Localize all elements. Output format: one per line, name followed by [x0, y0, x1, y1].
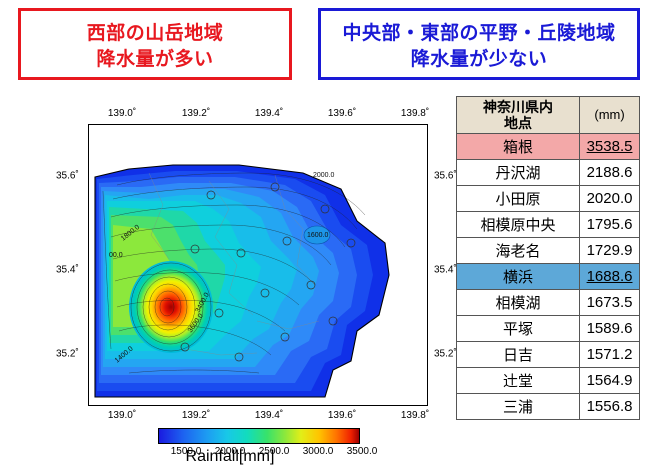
table-cell-location: 三浦 — [457, 394, 580, 420]
table-cell-location: 横浜 — [457, 264, 580, 290]
x-tick-bottom-2: 139.4˚ — [255, 410, 283, 421]
x-tick-bottom-3: 139.6˚ — [328, 410, 356, 421]
table-header-location-line1: 神奈川県内 — [457, 99, 579, 115]
y-tick-left-2: 35.2˚ — [56, 349, 79, 360]
table-cell-rainfall: 1673.5 — [580, 290, 640, 316]
table-cell-location: 小田原 — [457, 186, 580, 212]
table-row: 箱根3538.5 — [457, 134, 640, 160]
x-tick-bottom-1: 139.2˚ — [182, 410, 210, 421]
y-tick-right-0: 35.6˚ — [434, 171, 457, 182]
table-cell-location: 丹沢湖 — [457, 160, 580, 186]
table-cell-location: 相模原中央 — [457, 212, 580, 238]
x-tick-bottom-0: 139.0˚ — [108, 410, 136, 421]
table-cell-location: 箱根 — [457, 134, 580, 160]
table-row: 相模原中央1795.6 — [457, 212, 640, 238]
table-cell-rainfall: 1589.6 — [580, 316, 640, 342]
table-cell-location: 辻堂 — [457, 368, 580, 394]
table-row: 平塚1589.6 — [457, 316, 640, 342]
table-header-unit: (mm) — [580, 97, 640, 134]
contour-label-1: 1600.0 — [307, 232, 329, 239]
y-tick-right-1: 35.4˚ — [434, 265, 457, 276]
x-tick-top-4: 139.8˚ — [401, 108, 429, 119]
table-cell-rainfall: 1688.6 — [580, 264, 640, 290]
table-row: 海老名1729.9 — [457, 238, 640, 264]
rainfall-map-figure: 139.0˚ 139.2˚ 139.4˚ 139.6˚ 139.8˚ 139.0… — [20, 92, 440, 467]
table-cell-location: 相模湖 — [457, 290, 580, 316]
table-cell-rainfall: 1571.2 — [580, 342, 640, 368]
table-row: 相模湖1673.5 — [457, 290, 640, 316]
colorbar-axis-label: Rainfall[mm] — [20, 448, 440, 466]
y-tick-left-0: 35.6˚ — [56, 171, 79, 182]
table-header-row: 神奈川県内 地点 (mm) — [457, 97, 640, 134]
table-row: 小田原2020.0 — [457, 186, 640, 212]
callout-east-plains: 中央部・東部の平野・丘陵地域 降水量が少ない — [318, 8, 640, 80]
map-plot-area: 2000.0 1600.0 1800.0 00.0 3400.0 3600.0 … — [88, 124, 428, 406]
x-tick-bottom-4: 139.8˚ — [401, 410, 429, 421]
table-cell-rainfall: 2020.0 — [580, 186, 640, 212]
colorbar-gradient — [159, 429, 359, 443]
rainfall-ranking-table: 神奈川県内 地点 (mm) 箱根3538.5丹沢湖2188.6小田原2020.0… — [456, 96, 640, 420]
x-tick-top-1: 139.2˚ — [182, 108, 210, 119]
callout-east-line2: 降水量が少ない — [321, 47, 637, 73]
table-cell-location: 海老名 — [457, 238, 580, 264]
callout-west-line2: 降水量が多い — [21, 47, 289, 73]
callout-east-line1: 中央部・東部の平野・丘陵地域 — [321, 21, 637, 47]
table-row: 丹沢湖2188.6 — [457, 160, 640, 186]
y-tick-left-1: 35.4˚ — [56, 265, 79, 276]
table-row: 日吉1571.2 — [457, 342, 640, 368]
colorbar — [158, 428, 360, 444]
table-cell-rainfall: 1564.9 — [580, 368, 640, 394]
table-header-location-line2: 地点 — [457, 115, 579, 131]
y-tick-right-2: 35.2˚ — [434, 349, 457, 360]
x-tick-top-2: 139.4˚ — [255, 108, 283, 119]
rainfall-contour-map: 2000.0 1600.0 1800.0 00.0 3400.0 3600.0 … — [89, 125, 427, 405]
table-row: 三浦1556.8 — [457, 394, 640, 420]
callout-west-mountains: 西部の山岳地域 降水量が多い — [18, 8, 292, 80]
x-tick-top-0: 139.0˚ — [108, 108, 136, 119]
table-cell-location: 平塚 — [457, 316, 580, 342]
table-row: 横浜1688.6 — [457, 264, 640, 290]
contour-label-3: 00.0 — [109, 252, 123, 259]
table-cell-rainfall: 3538.5 — [580, 134, 640, 160]
table-cell-location: 日吉 — [457, 342, 580, 368]
x-tick-top-3: 139.6˚ — [328, 108, 356, 119]
table-row: 辻堂1564.9 — [457, 368, 640, 394]
table-header-location: 神奈川県内 地点 — [457, 97, 580, 134]
contour-label-0: 2000.0 — [313, 172, 335, 179]
table-cell-rainfall: 1556.8 — [580, 394, 640, 420]
table-cell-rainfall: 2188.6 — [580, 160, 640, 186]
table-cell-rainfall: 1795.6 — [580, 212, 640, 238]
callout-west-line1: 西部の山岳地域 — [21, 21, 289, 47]
table-cell-rainfall: 1729.9 — [580, 238, 640, 264]
